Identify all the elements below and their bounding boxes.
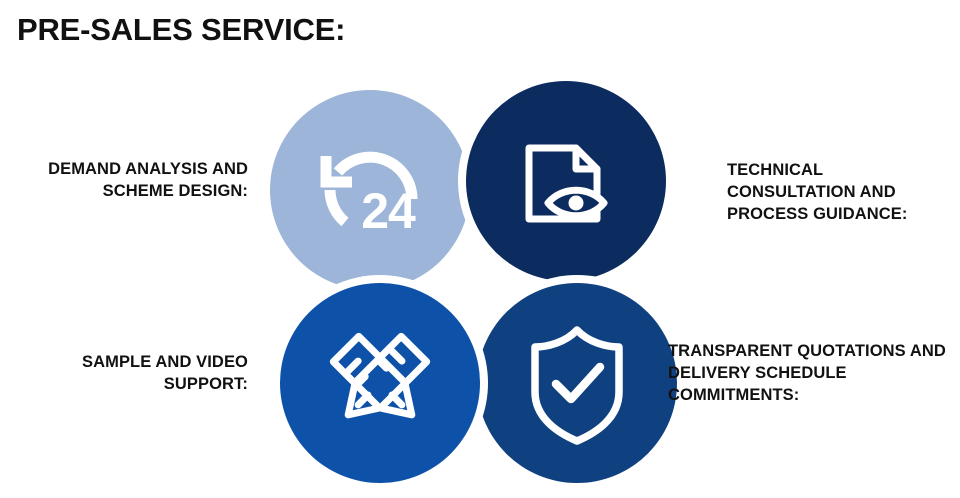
segment-technical-consultation[interactable] [466, 81, 666, 281]
label-technical-consultation: TECHNICAL CONSULTATION AND PROCESS GUIDA… [727, 160, 955, 225]
circle-technical-consultation[interactable] [466, 81, 666, 281]
badge-24-text: 24 [361, 183, 416, 239]
pre-sales-service-diagram: 24 [0, 0, 960, 498]
segment-transparent-quotations[interactable] [477, 283, 677, 483]
label-sample-video-support: SAMPLE AND VIDEO SUPPORT: [18, 352, 248, 396]
segment-demand-analysis[interactable]: 24 [270, 90, 470, 290]
segment-sample-video-support[interactable] [280, 283, 480, 483]
circle-sample-video-support[interactable] [280, 283, 480, 483]
circle-transparent-quotations[interactable] [477, 283, 677, 483]
label-transparent-quotations: TRANSPARENT QUOTATIONS AND DELIVERY SCHE… [668, 341, 960, 406]
label-demand-analysis: DEMAND ANALYSIS AND SCHEME DESIGN: [18, 159, 248, 203]
